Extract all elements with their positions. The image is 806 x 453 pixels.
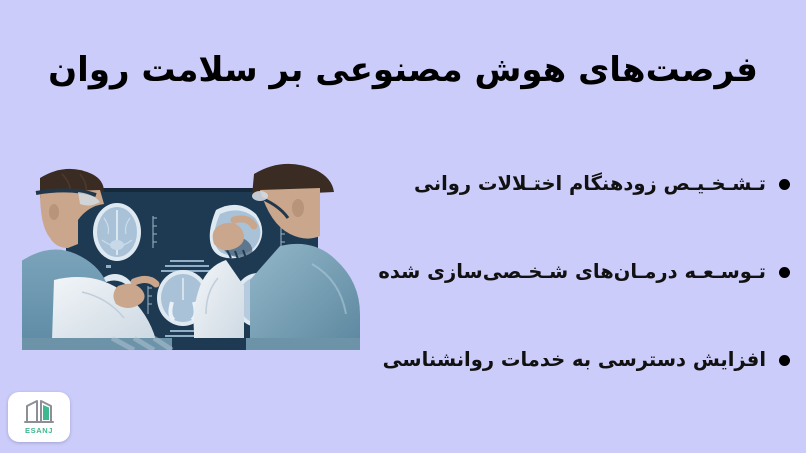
page-title: فرصت‌های هوش مصنوعی بر سلامت روان (0, 49, 806, 93)
bullet-dot-icon (779, 267, 790, 278)
bullet-dot-icon (779, 179, 790, 190)
esanj-logo-badge: ESANJ (8, 392, 70, 442)
bullet-item-text: تـوسـعـه درمـان‌های شـخـصی‌سازی شده (378, 259, 766, 284)
slide-canvas: فرصت‌های هوش مصنوعی بر سلامت روان (0, 0, 806, 453)
bullet-list: تـشـخـیـص زودهنگام اختـلالات روانی تـوسـ… (370, 140, 790, 404)
esanj-wordmark: ESANJ (25, 426, 53, 435)
esanj-building-icon (24, 399, 54, 425)
bullet-item-text: تـشـخـیـص زودهنگام اختـلالات روانی (414, 171, 766, 196)
bullet-item-text: افزایش دسترسی به خدمات روانشناسی (383, 347, 766, 372)
bullet-dot-icon (779, 355, 790, 366)
doctors-brain-scan-illustration (22, 160, 360, 350)
list-item: تـوسـعـه درمـان‌های شـخـصی‌سازی شده (370, 228, 790, 316)
list-item: افزایش دسترسی به خدمات روانشناسی (370, 316, 790, 404)
brain-scan-axial-1 (93, 203, 141, 261)
list-item: تـشـخـیـص زودهنگام اختـلالات روانی (370, 140, 790, 228)
